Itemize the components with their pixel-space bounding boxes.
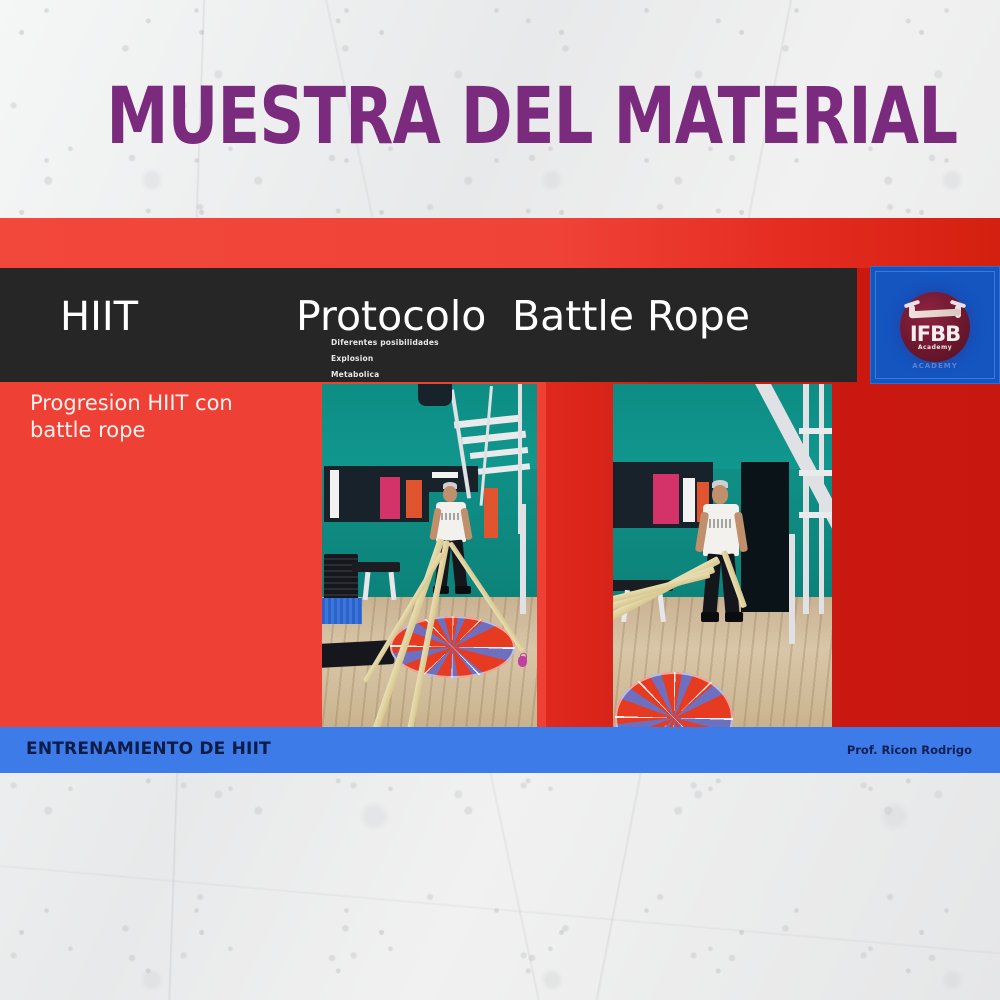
logo-mark-text: IFBB (900, 322, 970, 346)
page-title-text: MUESTRA DEL MATERIAL (106, 78, 957, 156)
wall-poster (683, 478, 695, 522)
doorway (741, 462, 789, 612)
person-shirt (703, 504, 739, 556)
wall-poster (330, 470, 339, 518)
footer-title: ENTRENAMIENTO DE HIIT (26, 739, 271, 759)
person-shoe-right (455, 586, 471, 594)
header-item-battle-rope[interactable]: Battle Rope (512, 292, 750, 340)
person-with-ropes (699, 480, 745, 640)
person-shoe-right (725, 612, 743, 622)
staircase-post (520, 504, 526, 614)
ceiling-fixture (418, 384, 452, 406)
footer-author: Prof. Ricon Rodrigo (847, 743, 972, 757)
header-subitem-metabolica: Metabolica (331, 370, 439, 379)
photo-battle-rope-close[interactable] (613, 384, 832, 772)
staircase-post (789, 534, 795, 644)
logo-sub-text: Academy (900, 344, 970, 351)
wall-shelf (613, 462, 713, 472)
header-subitem-explosion: Explosion (331, 354, 439, 363)
kettlebell (518, 656, 527, 667)
wall-poster (484, 488, 498, 538)
logo-tail-text: ACADEMY (870, 362, 1000, 370)
slide-canvas: HIIT Protocolo Diferentes posibilidades … (0, 218, 1000, 773)
header-item-protocolo[interactable]: Protocolo (296, 292, 486, 340)
staircase-step (799, 470, 832, 476)
slide-top-red-band (0, 218, 1000, 268)
person-shoe-left (701, 612, 719, 622)
staircase-rail (803, 384, 809, 614)
header-subitem-list: Diferentes posibilidades Explosion Metab… (331, 338, 439, 379)
person-head (443, 486, 457, 502)
header-subitem-diferentes-posibilidades: Diferentes posibilidades (331, 338, 439, 347)
staircase-rail (819, 384, 824, 614)
wall-poster (406, 480, 422, 518)
wall-poster (380, 477, 400, 519)
header-item-hiit[interactable]: HIIT (60, 294, 138, 340)
person-head (712, 485, 728, 504)
staircase-step (799, 428, 832, 434)
slide-footer-bar: ENTRENAMIENTO DE HIIT Prof. Ricon Rodrig… (0, 727, 1000, 773)
slide-header-bar: HIIT Protocolo Diferentes posibilidades … (0, 268, 857, 382)
slide-caption: Progresion HIIT con battle rope (30, 390, 300, 444)
ifbb-academy-logo: IFBB Academy ACADEMY (870, 266, 1000, 384)
blue-mat (322, 598, 362, 624)
logo-circle-icon: IFBB Academy (900, 292, 970, 362)
wall-light (432, 472, 458, 478)
staircase-step (799, 512, 832, 518)
wall-poster (653, 474, 679, 524)
photo-battle-rope-wide[interactable] (322, 384, 537, 772)
page-title: MUESTRA DEL MATERIAL (0, 78, 1000, 156)
gym-bench (352, 562, 400, 572)
